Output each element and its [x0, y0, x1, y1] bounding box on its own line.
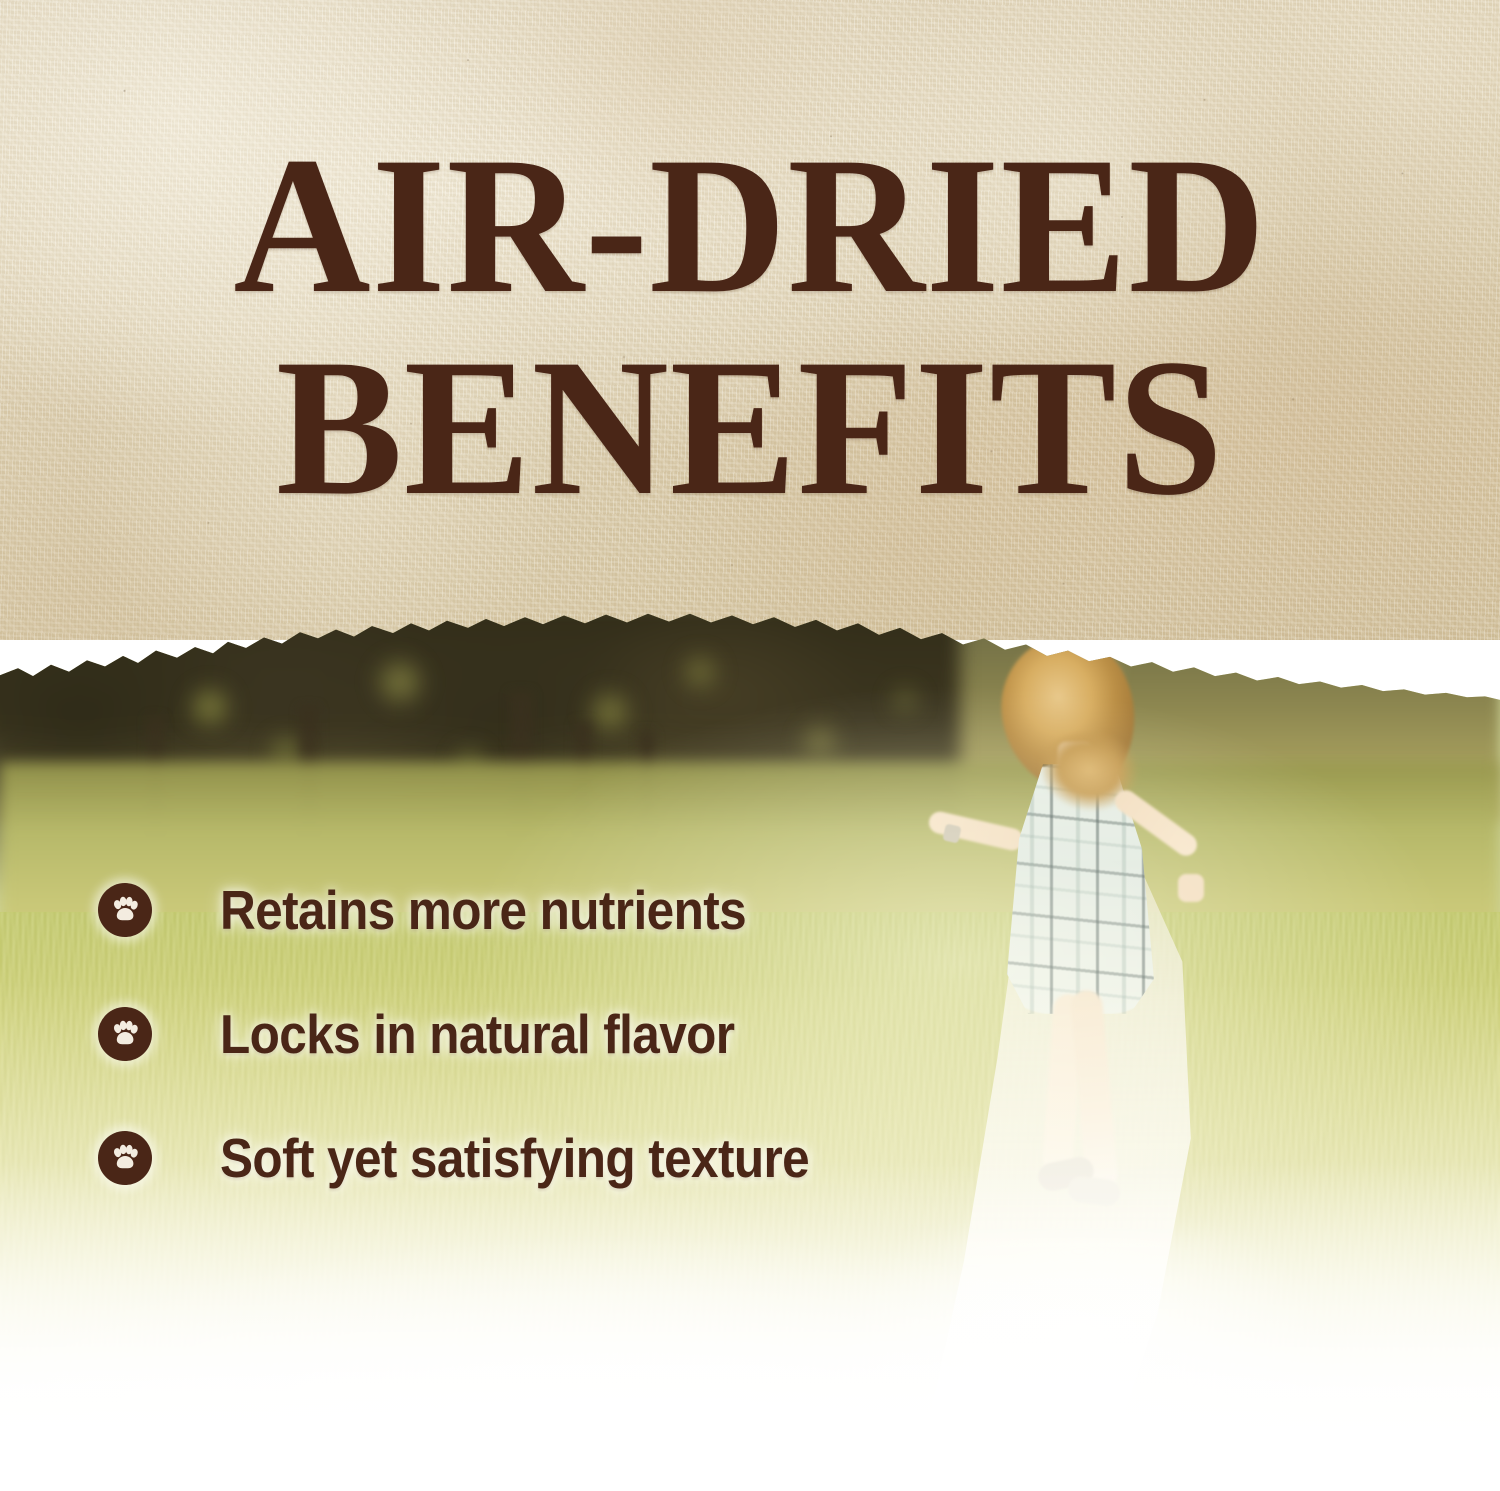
benefit-label-3: Soft yet satisfying texture	[220, 1131, 809, 1186]
paw-print-icon	[98, 1131, 152, 1185]
benefit-label-1: Retains more nutrients	[220, 883, 746, 938]
paper-speck-texture	[0, 0, 1500, 640]
paw-print-icon	[98, 883, 152, 937]
benefits-list: Retains more nutrients Locks in natural …	[98, 848, 1098, 1220]
girl-wristwatch	[942, 823, 961, 843]
benefit-label-2: Locks in natural flavor	[220, 1007, 734, 1062]
girl-left-arm	[927, 809, 1025, 852]
list-item: Locks in natural flavor	[98, 972, 1098, 1096]
kraft-paper-header-panel	[0, 0, 1500, 640]
girl-right-hand	[1178, 874, 1204, 902]
paw-print-icon	[98, 1007, 152, 1061]
list-item: Soft yet satisfying texture	[98, 1096, 1098, 1220]
list-item: Retains more nutrients	[98, 848, 1098, 972]
poster-canvas: AIR-DRIED BENEFITS	[0, 0, 1500, 1491]
